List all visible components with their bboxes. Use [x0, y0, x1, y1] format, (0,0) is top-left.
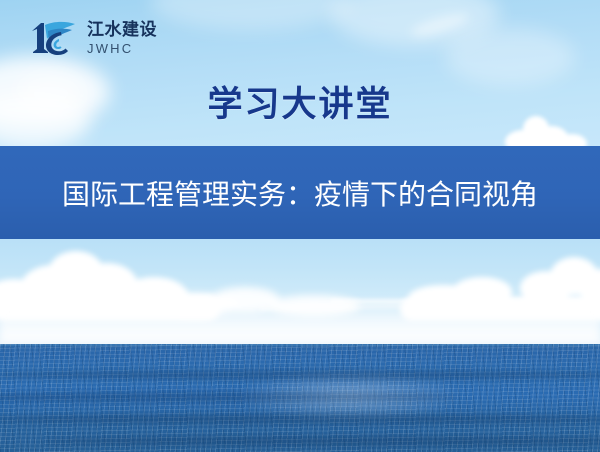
brand-name-en: JWHC [87, 42, 157, 55]
wave-band-3 [0, 414, 600, 424]
banner-bar: 国际工程管理实务：疫情下的合同视角 [0, 146, 600, 242]
poster-banner: 江水建设 JWHC 学习大讲堂 国际工程管理实务：疫情下的合同视角 [0, 0, 600, 452]
brand-name-cn: 江水建设 [87, 22, 157, 39]
banner-title: 国际工程管理实务：疫情下的合同视角 [62, 173, 538, 213]
cirrus-streak-1 [330, 299, 600, 304]
ocean-photo [0, 344, 600, 452]
brand-logo[interactable]: 江水建设 JWHC [28, 14, 183, 62]
wave-band-1 [0, 370, 600, 380]
brand-logo-text: 江水建设 JWHC [87, 21, 157, 55]
headline-title: 学习大讲堂 [0, 76, 600, 127]
horizon-haze [0, 309, 600, 343]
lower-sky-photo [0, 239, 600, 344]
jwhc-wave-logo-icon [28, 18, 80, 58]
